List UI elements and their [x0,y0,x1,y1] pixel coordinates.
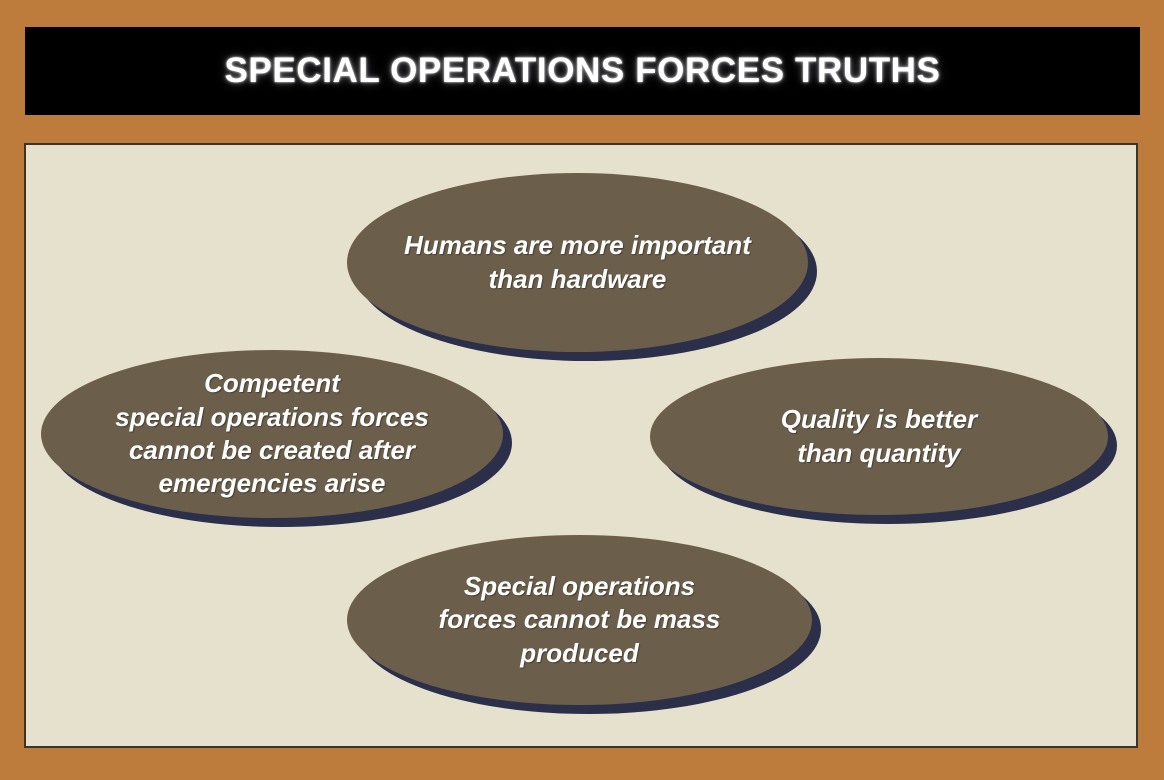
ellipse-label: Special operations forces cannot be mass… [417,570,743,670]
ellipse-humans-more-important-than-hardware[interactable]: Humans are more important than hardware [347,173,808,352]
ellipse-label: Quality is better than quantity [759,403,1000,470]
ellipse-competent-sof-cannot-be-created[interactable]: Competent special operations forces cann… [41,350,503,518]
title-bar: SPECIAL OPERATIONS FORCES TRUTHS [25,27,1140,115]
slide-canvas: SPECIAL OPERATIONS FORCES TRUTHS Humans … [0,0,1164,780]
ellipse-label: Competent special operations forces cann… [93,367,451,500]
page-title: SPECIAL OPERATIONS FORCES TRUTHS [224,51,940,91]
ellipse-label: Humans are more important than hardware [382,229,773,296]
ellipse-quality-better-than-quantity[interactable]: Quality is better than quantity [650,358,1108,515]
ellipse-sof-cannot-be-mass-produced[interactable]: Special operations forces cannot be mass… [347,535,812,705]
